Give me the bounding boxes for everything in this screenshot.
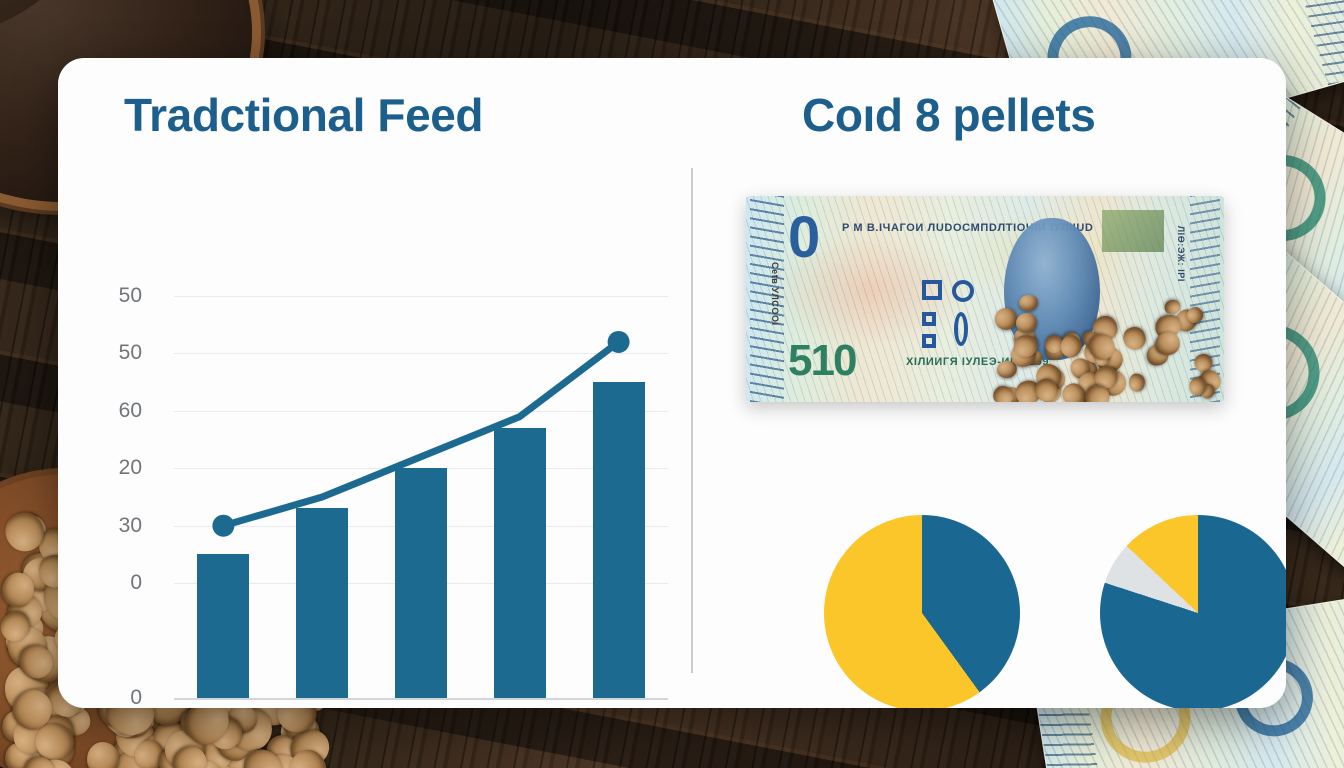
infographic-card: Tradctional Feed Coıd 8 pellets 50506020… [58, 58, 1286, 708]
dark-bowl-interior [0, 0, 92, 36]
gridline [174, 698, 668, 700]
pie-chart-right [1100, 515, 1286, 708]
banknote-pellets-photo: 0 Cetв УЛCOOI P M В.IЧАГОИ ЛUDОСMПDЛТIОЧ… [746, 196, 1224, 402]
left-panel-title: Tradctional Feed [124, 88, 483, 142]
banknote-square-2 [922, 312, 936, 326]
feed-pellet [1018, 294, 1038, 313]
banknote-security-patch [1102, 210, 1164, 252]
banknote-oval-1 [952, 280, 974, 302]
trend-line-series [88, 208, 678, 678]
right-panel-title: Coıd 8 pellets [802, 88, 1095, 142]
banknote-square-3 [922, 334, 936, 348]
banknote-denomination-large: 0 [788, 204, 820, 271]
feed-pellets-on-banknote [982, 292, 1222, 402]
y-axis-tick-label: 0 [96, 686, 142, 708]
bar-line-chart: 505060203000 28525420526020I2 [88, 208, 678, 678]
trend-marker [608, 331, 630, 353]
feed-pellet [1119, 322, 1150, 354]
panel-divider [691, 168, 693, 673]
banknote-denomination-small: 510 [788, 336, 855, 386]
trend-marker [212, 515, 234, 537]
banknote-serial-right: ЛIӨ:ЭЖ: IРI [1176, 226, 1186, 282]
pie-chart-left [824, 515, 1020, 708]
banknote-oval-2 [954, 312, 968, 346]
trend-polyline [223, 342, 618, 526]
banknote-serial-left: Cetв УЛCOOI [770, 262, 780, 326]
feed-pellet [1129, 374, 1145, 392]
banknote-square-1 [922, 280, 942, 300]
